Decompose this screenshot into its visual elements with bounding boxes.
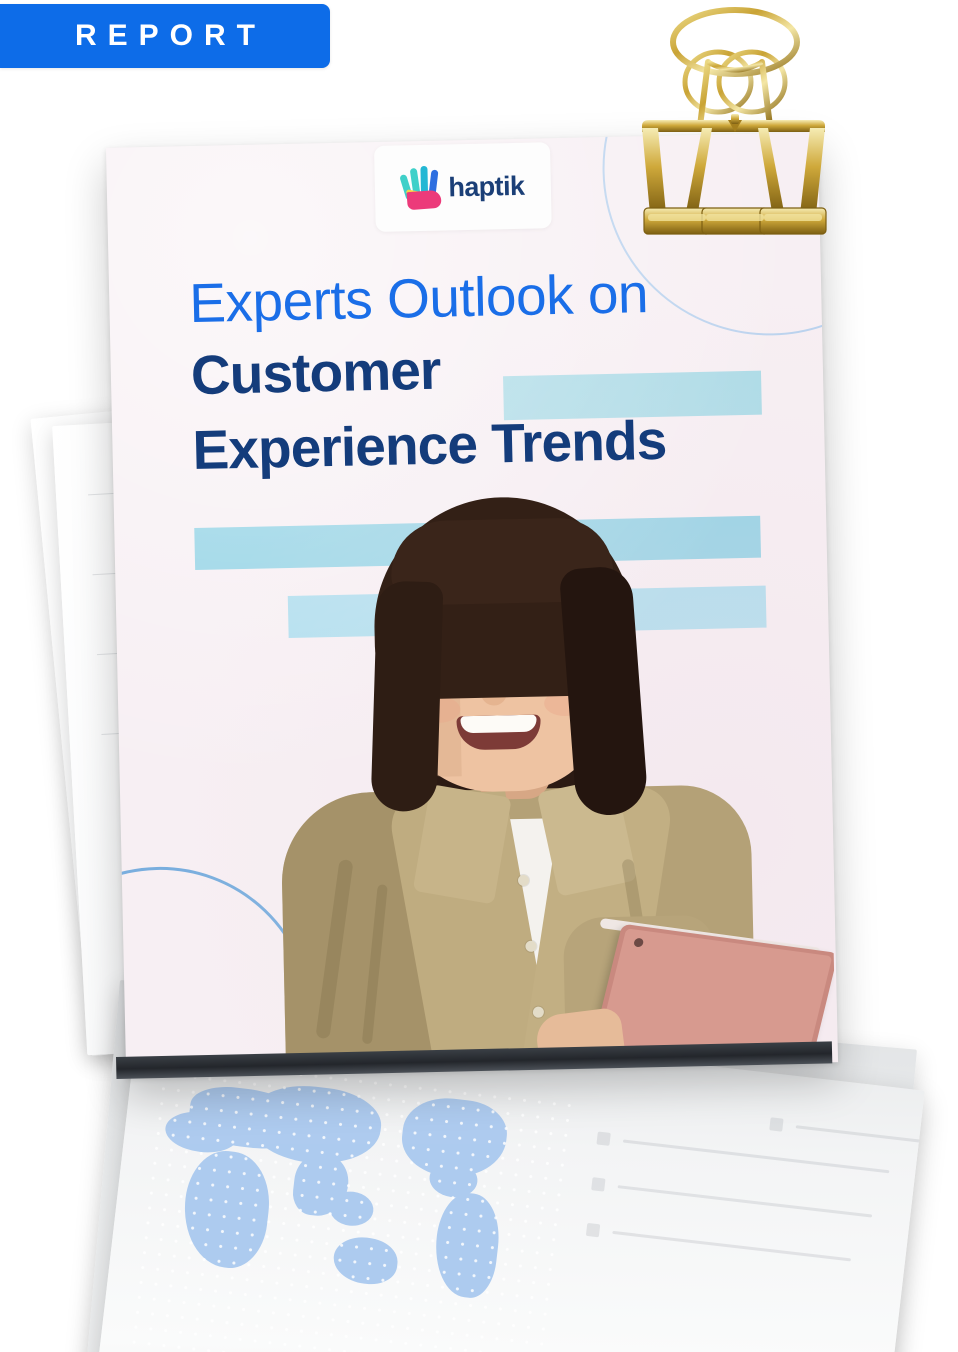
back-sheet-bullet-row [586,1223,885,1266]
cover-title: Experts Outlook on Customer Experience T… [189,261,793,479]
haptik-wordmark: haptik [448,172,524,201]
back-sheet-bullet-row [770,1117,925,1144]
report-cover-page: haptik Experts Outlook on Customer Exper… [106,132,838,1077]
haptik-logo: haptik [374,142,552,232]
report-badge-label: REPORT [64,21,266,51]
cover-title-line-3: Experience Trends [192,408,793,479]
back-sheet-bullet-row [597,1132,896,1175]
back-sheet-bullet-row [592,1177,891,1220]
report-cover-composition: haptik Experts Outlook on Customer Exper… [0,0,958,1352]
cover-photo-woman-with-tablet [264,482,837,1074]
report-badge: REPORT [0,4,330,68]
haptik-hand-icon [401,166,442,211]
cover-title-line-1: Experts Outlook on [189,261,790,332]
binder-clip-icon [630,4,840,249]
cover-title-line-2: Customer [190,333,791,404]
world-map-dotted-icon [126,1051,578,1352]
